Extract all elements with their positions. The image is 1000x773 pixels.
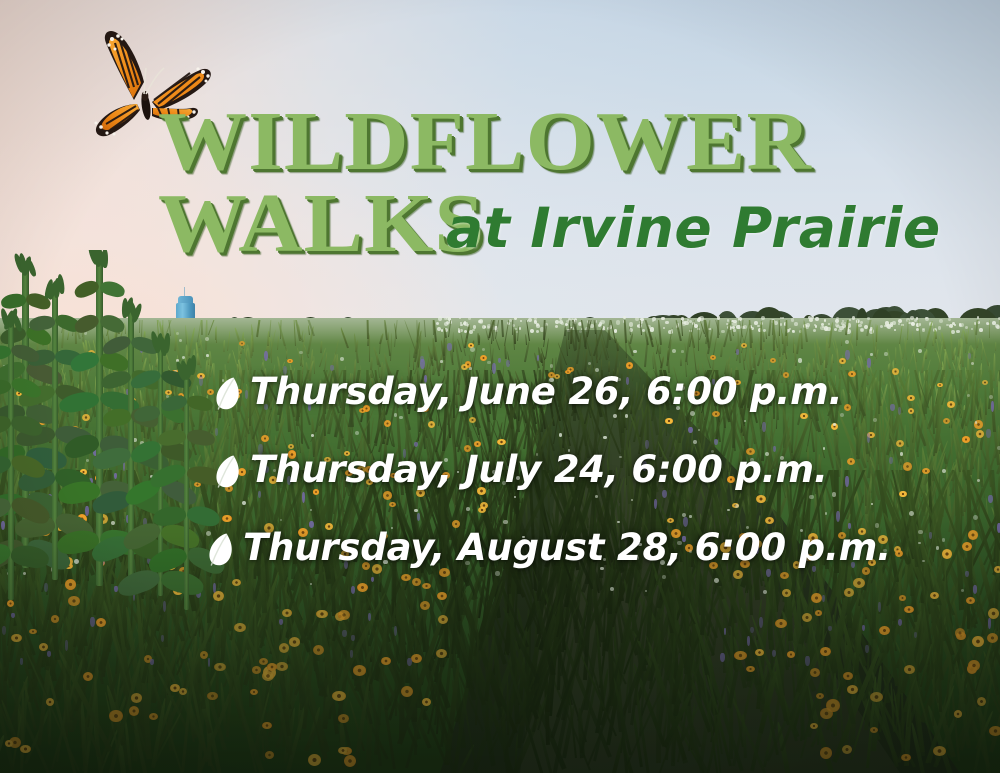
poster-title-block: WILDFLOWER WALKS at Irvine Prairie <box>0 0 1000 280</box>
list-item: Thursday, June 26, 6:00 p.m. <box>0 360 1000 438</box>
event-date-text: Thursday, July 24, 6:00 p.m. <box>250 448 828 491</box>
subtitle-at-irvine-prairie: at Irvine Prairie <box>446 196 941 260</box>
event-date-list: Thursday, June 26, 6:00 p.m. Thursday, J… <box>0 360 1000 594</box>
leaf-icon <box>207 532 237 568</box>
list-item: Thursday, August 28, 6:00 p.m. <box>0 516 1000 594</box>
wildflower-walks-poster: WILDFLOWER WALKS at Irvine Prairie Thurs… <box>0 0 1000 773</box>
list-item: Thursday, July 24, 6:00 p.m. <box>0 438 1000 516</box>
leaf-icon <box>214 376 244 412</box>
title-line-walks: WALKS <box>158 182 485 266</box>
event-date-text: Thursday, June 26, 6:00 p.m. <box>250 370 842 413</box>
event-date-text: Thursday, August 28, 6:00 p.m. <box>243 526 891 569</box>
title-line-wildflower: WILDFLOWER <box>158 100 812 184</box>
leaf-icon <box>214 454 244 490</box>
